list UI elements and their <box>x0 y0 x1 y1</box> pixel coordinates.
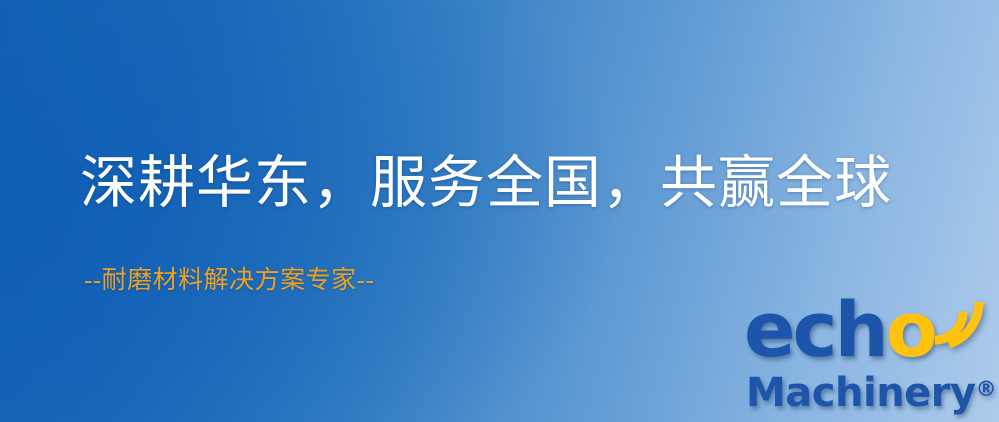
banner-subtitle: --耐磨材料解决方案专家-- <box>84 266 374 296</box>
logo-brand-text: echo <box>744 290 935 370</box>
echo-machinery-logo: echo Machinery® <box>744 296 994 422</box>
logo-wordmark-text: Machinery <box>746 370 976 416</box>
promo-banner: 深耕华东，服务全国，共赢全球 --耐磨材料解决方案专家-- echo Machi… <box>0 0 999 422</box>
logo-brand-ech: ech <box>744 285 886 374</box>
signal-arcs-icon <box>927 294 989 354</box>
registered-trademark-icon: ® <box>976 377 997 401</box>
banner-headline: 深耕华东，服务全国，共赢全球 <box>80 152 892 216</box>
logo-mark: echo <box>744 296 994 376</box>
logo-wordmark: Machinery® <box>746 366 997 416</box>
